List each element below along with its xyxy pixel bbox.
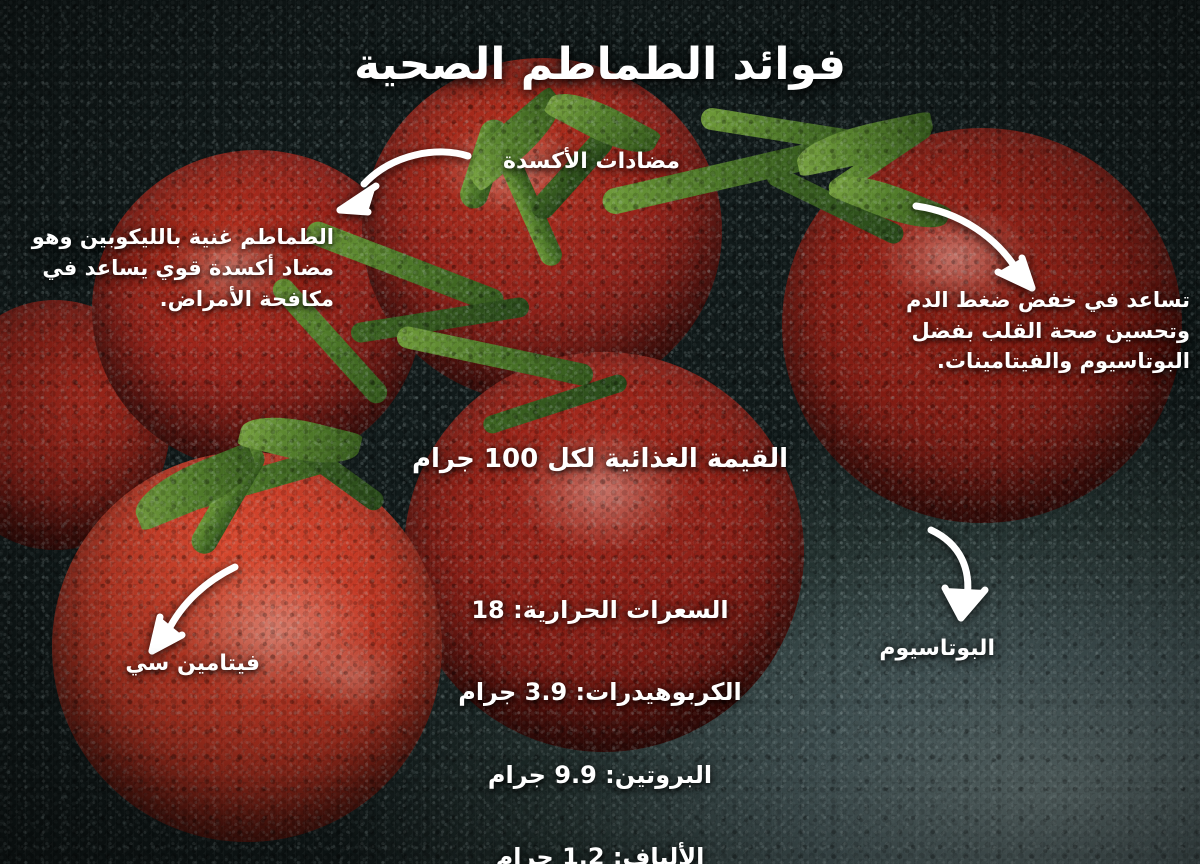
nutrition-panel: القيمة الغذائية لكل 100 جرام السعرات الح… — [0, 418, 1200, 864]
callout-label-antioxidants: مضادات الأكسدة — [503, 146, 680, 177]
callout-label-potassium: البوتاسيوم — [879, 633, 995, 664]
callout-body-antioxidants: الطماطم غنية بالليكوبين وهو مضاد أكسدة ق… — [4, 222, 334, 315]
page-title: فوائد الطماطم الصحية — [0, 34, 1200, 96]
nutrition-list: السعرات الحرارية: 18 الكربوهيدرات: 3.9 ج… — [0, 548, 1200, 864]
nutrition-row-fiber: الألياف: 1.2 جرام — [0, 837, 1200, 864]
callout-body-heart: تساعد في خفض ضغط الدم وتحسين صحة القلب ب… — [900, 285, 1190, 377]
nutrition-row-protein: البروتين: 9.9 جرام — [0, 755, 1200, 796]
nutrition-row-calories: السعرات الحرارية: 18 — [0, 590, 1200, 631]
infographic-canvas: فوائد الطماطم الصحية مضادات الأكسدة الطم… — [0, 0, 1200, 864]
callout-label-vitamin-c: فيتامين سي — [125, 648, 260, 679]
nutrition-heading: القيمة الغذائية لكل 100 جرام — [0, 441, 1200, 478]
